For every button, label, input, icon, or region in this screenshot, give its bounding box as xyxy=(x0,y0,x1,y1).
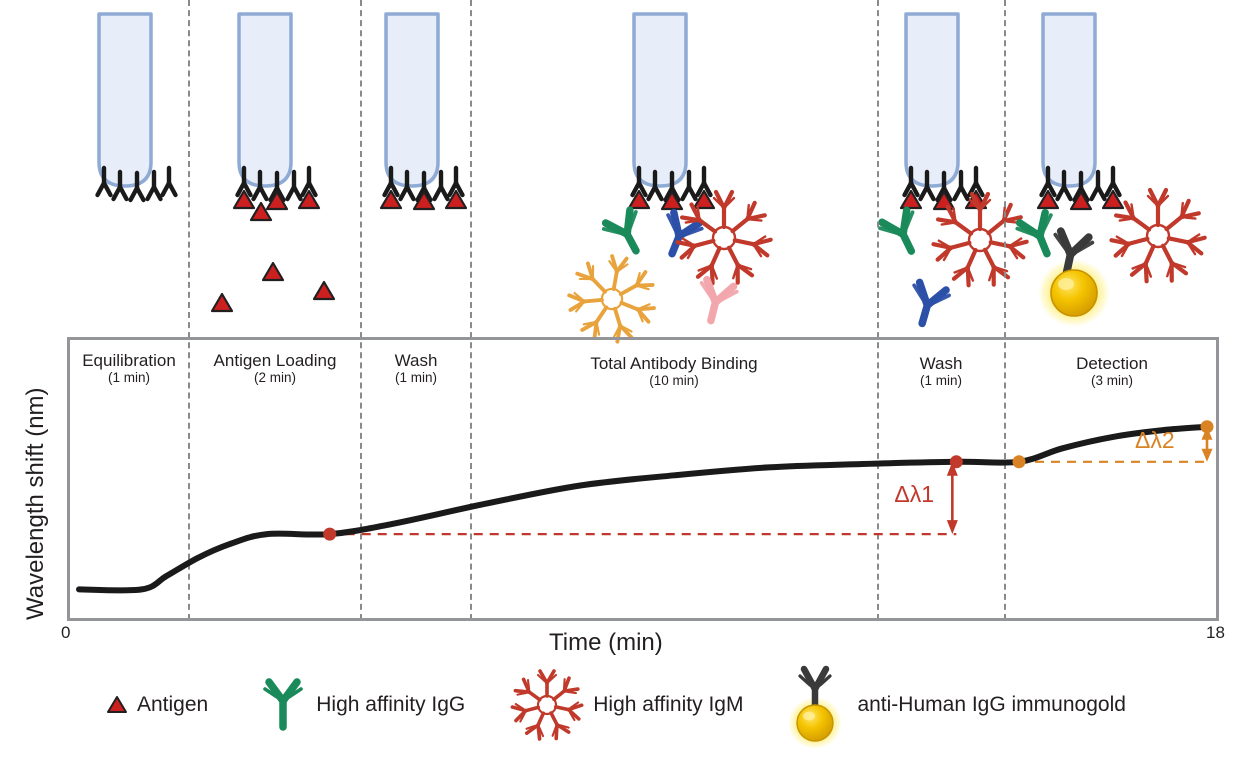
free-igm-orange-4 xyxy=(569,256,655,342)
panel-detection-illustration xyxy=(1016,14,1205,327)
legend-item-high-affinity-igg: High affinity IgG xyxy=(260,678,465,732)
figure-canvas: Equilibration (1 min) Antigen Loading (2… xyxy=(0,0,1256,769)
bound-antigens-2 xyxy=(234,191,319,220)
bound-igm-red-5 xyxy=(933,194,1027,286)
red-igm-pentamer-icon xyxy=(511,669,583,741)
delta1-start-marker xyxy=(323,528,336,541)
bound-antigens-4 xyxy=(629,191,714,209)
y-axis-label: Wavelength shift (nm) xyxy=(22,387,50,620)
x-axis-label: Time (min) xyxy=(549,629,663,657)
delta2-start-marker xyxy=(1013,455,1026,468)
legend-item-immunogold: anti-Human IgG immunogold xyxy=(787,661,1125,749)
red-triangle-antigen-icon xyxy=(104,692,130,718)
delta2-end-marker xyxy=(1201,420,1214,433)
legend-item-antigen: Antigen xyxy=(104,692,208,718)
green-igg-antibody-icon xyxy=(260,678,306,732)
free-igg-blue-5 xyxy=(905,281,951,328)
delta1-label: Δλ1 xyxy=(894,481,934,508)
sensorgram-curve xyxy=(79,427,1207,591)
legend-label-high-affinity-igm: High affinity IgM xyxy=(593,693,743,717)
bound-igg-green-5 xyxy=(878,208,928,259)
panel-wash1-illustration xyxy=(381,14,466,209)
bound-antigens-3 xyxy=(381,191,466,209)
x-axis-tick-min: 0 xyxy=(61,623,70,643)
immunogold-conjugate-6 xyxy=(1038,230,1110,327)
bound-igg-green-4 xyxy=(602,208,652,259)
panel-equilibration-illustration xyxy=(98,14,176,200)
panel-antigen-loading-illustration xyxy=(212,14,334,311)
legend-label-high-affinity-igg: High affinity IgG xyxy=(316,693,465,717)
delta1-end-marker xyxy=(950,455,963,468)
gold-nanoparticle-antibody-icon xyxy=(787,661,843,749)
figure-legend: Antigen High affinity IgG xyxy=(104,676,1164,734)
panel-total-antibody-binding-illustration xyxy=(569,14,771,342)
legend-label-antigen: Antigen xyxy=(137,693,208,717)
bound-igm-red-4 xyxy=(677,192,771,284)
delta2-label: Δλ2 xyxy=(1135,427,1175,454)
bound-igm-red-6 xyxy=(1111,190,1205,282)
sensorgram-plot xyxy=(67,337,1219,621)
legend-item-high-affinity-igm: High affinity IgM xyxy=(511,669,743,741)
delta1-arrow xyxy=(947,462,958,534)
x-axis-tick-max: 18 xyxy=(1206,623,1225,643)
legend-label-immunogold: anti-Human IgG immunogold xyxy=(857,693,1125,717)
free-igg-pink-4 xyxy=(693,279,738,325)
free-antigens-2 xyxy=(212,263,334,311)
bound-antigens-6 xyxy=(1038,191,1123,209)
